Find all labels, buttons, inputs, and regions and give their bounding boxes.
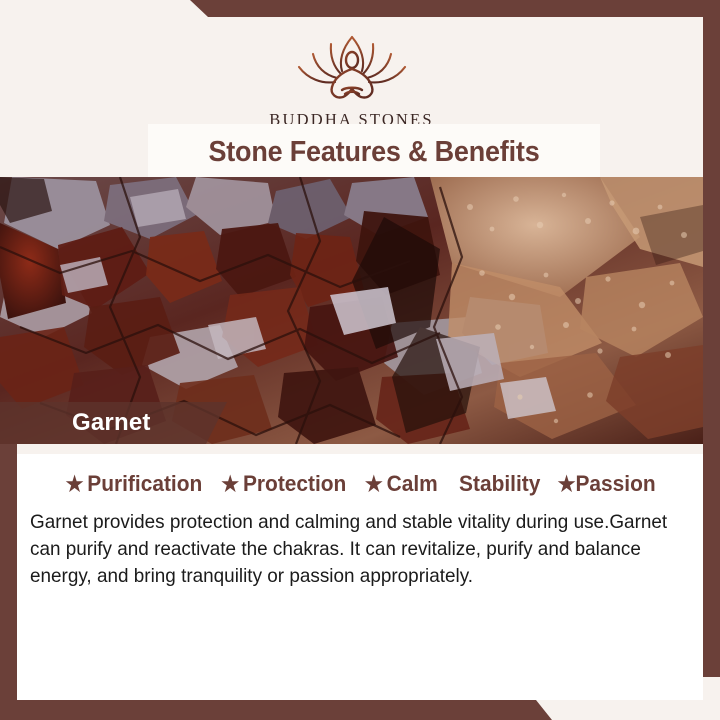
star-icon: ★ [365,474,383,495]
stone-name-banner: Garnet [0,402,227,444]
star-icon: ★ [558,474,576,495]
left-frame-band [0,420,17,702]
page-title: Stone Features & Benefits [208,136,539,169]
title-banner: Stone Features & Benefits [148,124,600,180]
benefit-label: Stability [459,471,540,497]
benefit-item: ★ Calm [365,471,438,497]
benefit-label: Purification [87,471,202,497]
benefit-item: Stability [455,471,540,497]
stone-description: Garnet provides protection and calming a… [30,509,670,590]
card-top-tint [17,444,703,454]
right-frame-band [703,0,720,677]
content-card: ★ Purification ★ Protection ★ Calm Stabi… [17,444,703,700]
benefit-item: ★ Purification [65,471,202,497]
benefit-label: Protection [243,471,346,497]
top-frame-band [0,0,720,17]
benefit-item: ★ Protection [222,471,347,497]
infographic-page: BUDDHA STONES Stone Features & Benefits [0,0,720,720]
star-icon: ★ [222,474,240,495]
benefit-label: Calm [387,471,438,497]
star-icon: ★ [65,474,83,495]
benefits-list: ★ Purification ★ Protection ★ Calm Stabi… [17,471,703,497]
brand-logo: BUDDHA STONES [0,27,703,130]
benefit-item: ★ Passion [558,471,656,497]
benefit-label: Passion [576,471,656,497]
stone-name: Garnet [72,409,151,437]
bottom-frame-band [0,700,720,720]
lotus-meditation-icon [272,27,432,107]
